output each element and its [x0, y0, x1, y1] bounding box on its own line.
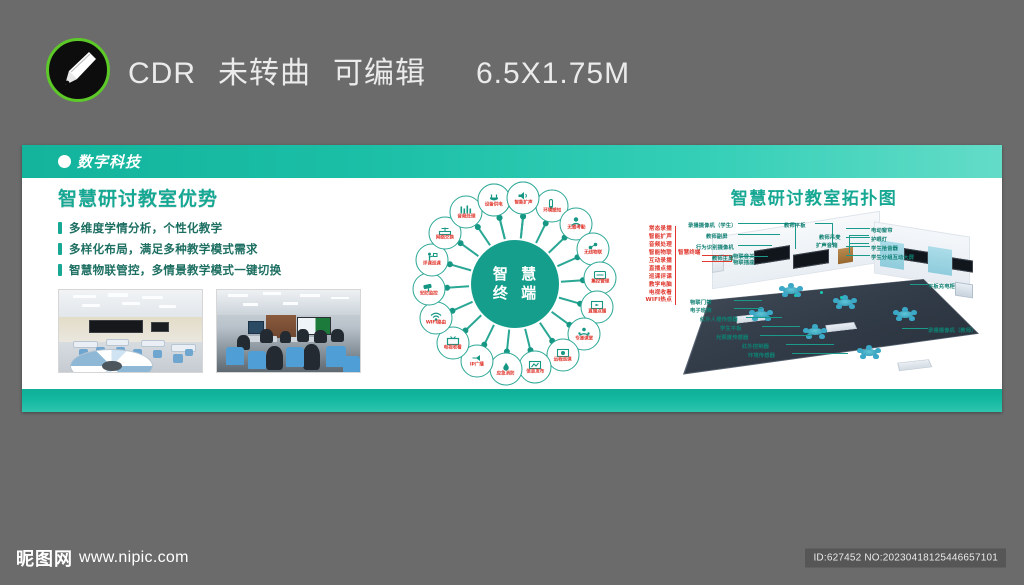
wheel-node-5[interactable]: 无线物联	[577, 232, 610, 265]
wheel-node-10[interactable]: 信息发布	[519, 350, 552, 383]
banner-top-bar: 数字科技	[22, 145, 1002, 178]
hub-smart-terminal: 智 慧 终 端	[471, 240, 559, 328]
wheel-node-label: 设备供电	[485, 203, 503, 208]
pod-group	[832, 295, 858, 310]
capability-item: WIFI热点	[634, 297, 672, 305]
pod-group	[778, 283, 804, 298]
wheel-node-15[interactable]: 安防监控	[412, 273, 445, 306]
pod-group	[856, 345, 882, 360]
spoke-connector	[524, 328, 531, 350]
list-item-label: 多维度学情分析，个性化教学	[69, 220, 222, 236]
capability-item: 智能扩声	[634, 234, 672, 242]
top-header-strip: CDR 未转曲 可编辑 6.5X1.75M	[0, 0, 1024, 140]
callout-label: 红外控制器	[742, 342, 769, 350]
callout-label: 电子班牌	[690, 306, 712, 314]
spoke-connector	[498, 217, 505, 239]
spoke-connector	[548, 236, 565, 252]
capability-item: 智能物联	[634, 250, 672, 258]
wheel-node-label: 无线物联	[584, 252, 602, 257]
spoke-connector	[535, 222, 546, 242]
hub-label-line-2: 终 端	[493, 284, 540, 303]
list-item-label: 智慧物联管控，多情景教学模式一键切换	[69, 262, 281, 278]
brand-name: 数字科技	[77, 151, 141, 172]
callout-label: 行为识别摄像机	[696, 243, 734, 251]
advantages-list: 多维度学情分析，个性化教学 多样化布局，满足多种教学模式需求 智慧物联管控，多情…	[58, 220, 366, 278]
banner-body: 智慧研讨教室优势 多维度学情分析，个性化教学 多样化布局，满足多种教学模式需求 …	[22, 178, 1002, 389]
callout-label: 护眼灯	[871, 235, 887, 243]
wheel-node-label: 电视收看	[444, 346, 462, 351]
page-title: 智慧研讨教室优势	[58, 184, 366, 211]
wheel-node-label: 安防监控	[420, 293, 438, 298]
list-item: 智慧物联管控，多情景教学模式一键切换	[58, 262, 366, 278]
wheel-node-label: 无感考勤	[567, 227, 585, 232]
spoke-connector	[506, 329, 510, 351]
capability-item: 常态录播	[634, 226, 672, 234]
spoke-connector	[452, 301, 473, 311]
spoke-connector	[557, 256, 578, 266]
site-logo: 昵图网	[16, 545, 73, 571]
header-labels: CDR 未转曲 可编辑 6.5X1.75M	[128, 48, 630, 92]
spoke-connector	[464, 314, 481, 330]
banner-bottom-bar	[22, 389, 1002, 412]
callout-label: 红外人侵传感器	[700, 315, 738, 323]
callout-label: 录播摄像机（学生）	[688, 221, 737, 229]
wheel-node-label: 远程巡课	[554, 358, 572, 363]
spoke-connector	[539, 322, 553, 341]
spoke-connector	[551, 311, 570, 325]
wheel-node-label: 直播点播	[588, 310, 606, 315]
wheel-node-6[interactable]: 集控管理	[584, 261, 617, 294]
brand-lockup: 数字科技	[58, 151, 141, 172]
bullet-marker-icon	[58, 264, 62, 276]
site-url: www.nipic.com	[79, 549, 189, 567]
capability-item: 互动录播	[634, 258, 672, 266]
spoke-connector	[476, 226, 490, 245]
callout-label: 学生分组互动大屏	[871, 253, 914, 261]
wheel-node-label: 集控管理	[591, 281, 609, 286]
capability-item: 直播点播	[634, 266, 672, 274]
callout-label: 物联门禁	[690, 298, 712, 306]
wheel-node-label: 专递课堂	[575, 337, 593, 342]
callout-label: 录播摄像机（教师）	[928, 326, 977, 334]
wheel-node-label: 评课巡课	[423, 263, 441, 268]
callout-label: 光照度传感器	[716, 333, 748, 341]
size-label: 6.5X1.75M	[476, 57, 630, 91]
banner-artboard: 数字科技 智慧研讨教室优势 多维度学情分析，个性化教学 多样化布局，满足多种教学…	[22, 145, 1002, 412]
pod-group	[892, 307, 918, 322]
callout-label: 电动窗帘	[871, 226, 893, 234]
capability-list: 常态录播 智能扩声 音频处理 智能物联 互动录播 直播点播 巡课评课 教学电脑 …	[634, 226, 676, 305]
callout-label: 教师副屏	[706, 232, 728, 240]
spoke-connector	[449, 263, 471, 271]
wheel-node-20[interactable]: 智能扩声	[507, 181, 540, 214]
capability-item: 教学电脑	[634, 282, 672, 290]
wheel-node-11[interactable]: 应急消防	[489, 353, 522, 386]
id-badge: ID:627452 NO:20230418125446657101	[805, 548, 1006, 567]
editable-label: 可编辑	[333, 48, 426, 92]
classroom-round-table-photo	[58, 289, 203, 373]
capability-item: 音频处理	[634, 242, 672, 250]
smart-terminal-wheel-diagram: 智 慧 终 端 常态录播互动录播环境感知无感考勤无线物联集控管理直播点播专递课堂…	[397, 178, 632, 389]
bullet-marker-icon	[58, 243, 62, 255]
pod-group	[802, 324, 828, 339]
wheel-node-label: 环境感知	[543, 209, 561, 214]
list-item: 多维度学情分析，个性化教学	[58, 220, 366, 236]
topology-panel: 智慧研讨教室拓扑图 常态录播 智能扩声 音频处理 智能物联 互动录播 直播点播 …	[634, 182, 994, 389]
callout-label: 教师主屏	[712, 254, 734, 262]
wheel-node-label: IP广播	[470, 364, 484, 369]
callout-label: 教师平板	[784, 221, 806, 229]
callout-label: 扩声音箱	[816, 241, 838, 249]
callout-label: 平板充电柜	[928, 282, 955, 290]
spoke-connector	[483, 324, 494, 344]
photo-row	[58, 289, 366, 373]
brand-dot-icon	[58, 155, 71, 168]
spoke-connector	[560, 279, 582, 282]
spoke-connector	[459, 242, 478, 256]
callout-label: 学生拾音器	[871, 244, 898, 252]
hub-label-line-1: 智 慧	[493, 265, 540, 284]
wheel-node-14[interactable]: WIFI路由	[419, 302, 452, 335]
curve-label: 未转曲	[218, 48, 311, 92]
wheel-node-label: WIFI路由	[426, 322, 446, 327]
watermark-bar: 昵图网 www.nipic.com ID:627452 NO:202304181…	[0, 530, 1024, 585]
wheel-node-label: 音频处理	[457, 215, 475, 220]
spoke-connector	[519, 216, 523, 238]
list-item: 多样化布局，满足多种教学模式需求	[58, 241, 366, 257]
wheel-node-label: 信息发布	[526, 370, 544, 375]
callout-label: 教师吊麦	[819, 233, 841, 241]
wheel-node-label: 应急消防	[497, 372, 515, 377]
bullet-marker-icon	[58, 222, 62, 234]
list-item-label: 多样化布局，满足多种教学模式需求	[69, 241, 258, 257]
capability-item: 巡课评课	[634, 274, 672, 282]
pen-nib-icon	[46, 38, 110, 102]
callout-label: 环境传感器	[748, 351, 775, 359]
spoke-connector	[558, 296, 580, 304]
format-label: CDR	[128, 57, 196, 91]
callout-label: 物联插座	[733, 258, 755, 266]
wheel-node-19[interactable]: 设备供电	[477, 184, 510, 217]
wheel-node-label: 智能扩声	[514, 201, 532, 206]
topology-stage: 常态录播 智能扩声 音频处理 智能物联 互动录播 直播点播 巡课评课 教学电脑 …	[634, 208, 994, 388]
advantages-panel: 智慧研讨教室优势 多维度学情分析，个性化教学 多样化布局，满足多种教学模式需求 …	[36, 184, 366, 389]
topology-title: 智慧研讨教室拓扑图	[634, 184, 994, 209]
callout-label: 学生平板	[720, 324, 742, 332]
pod-group	[748, 307, 774, 322]
spoke-connector	[447, 285, 469, 288]
classroom-students-photo	[216, 289, 361, 373]
wheel-node-label: 网络交换	[436, 236, 454, 241]
